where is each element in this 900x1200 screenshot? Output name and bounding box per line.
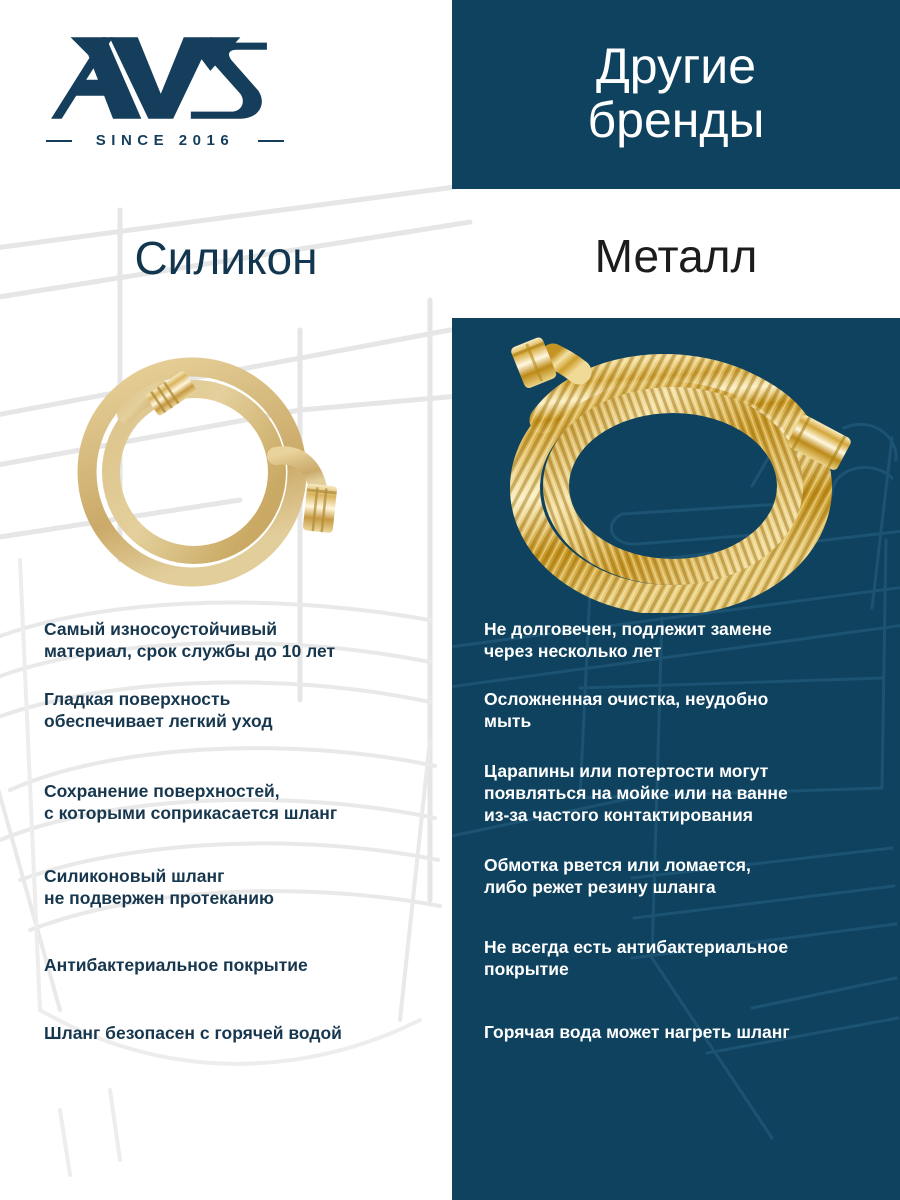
silicone-feature-list: Самый износоустойчивый материал, срок сл… <box>44 618 444 1056</box>
other-brands-line-1: Другие <box>588 39 765 93</box>
list-item: Антибактериальное покрытие <box>44 954 444 976</box>
infographic-page: SINCE 2016 Другие бренды Силикон Металл <box>0 0 900 1200</box>
brand-logo: SINCE 2016 <box>44 28 334 168</box>
other-brands-panel: Другие бренды <box>452 0 900 189</box>
other-brands-line-2: бренды <box>588 93 765 147</box>
list-item: Не всегда есть антибактериальное покрыти… <box>484 936 884 980</box>
logo-tagline: SINCE 2016 <box>46 132 284 149</box>
list-item: Горячая вода может нагреть шланг <box>484 1021 884 1043</box>
other-brands-title: Другие бренды <box>588 39 765 151</box>
metal-hose-image <box>483 328 873 613</box>
list-item: Шланг безопасен с горячей водой <box>44 1022 444 1044</box>
metal-feature-list: Не долговечен, подлежит замене через нес… <box>484 618 884 1055</box>
list-item: Силиконовый шланг не подвержен протекани… <box>44 865 444 909</box>
list-item: Самый износоустойчивый материал, срок сл… <box>44 618 444 662</box>
list-item: Обмотка рвется или ломается, либо режет … <box>484 854 884 898</box>
list-item: Осложненная очистка, неудобно мыть <box>484 688 884 732</box>
tagline-rule-left <box>46 140 72 142</box>
list-item: Царапины или потертости могут появляться… <box>484 760 884 826</box>
list-item: Гладкая поверхность обеспечивает легкий … <box>44 688 444 732</box>
list-item: Не долговечен, подлежит замене через нес… <box>484 618 884 662</box>
tagline-rule-right <box>258 140 284 142</box>
right-column-heading: Металл <box>452 233 900 279</box>
avs-logo-icon <box>44 28 274 128</box>
silicone-hose-image <box>62 330 382 600</box>
list-item: Сохранение поверхностей, с которыми сопр… <box>44 780 444 824</box>
logo-tagline-text: SINCE 2016 <box>82 132 248 149</box>
left-column-heading: Силикон <box>0 235 452 281</box>
